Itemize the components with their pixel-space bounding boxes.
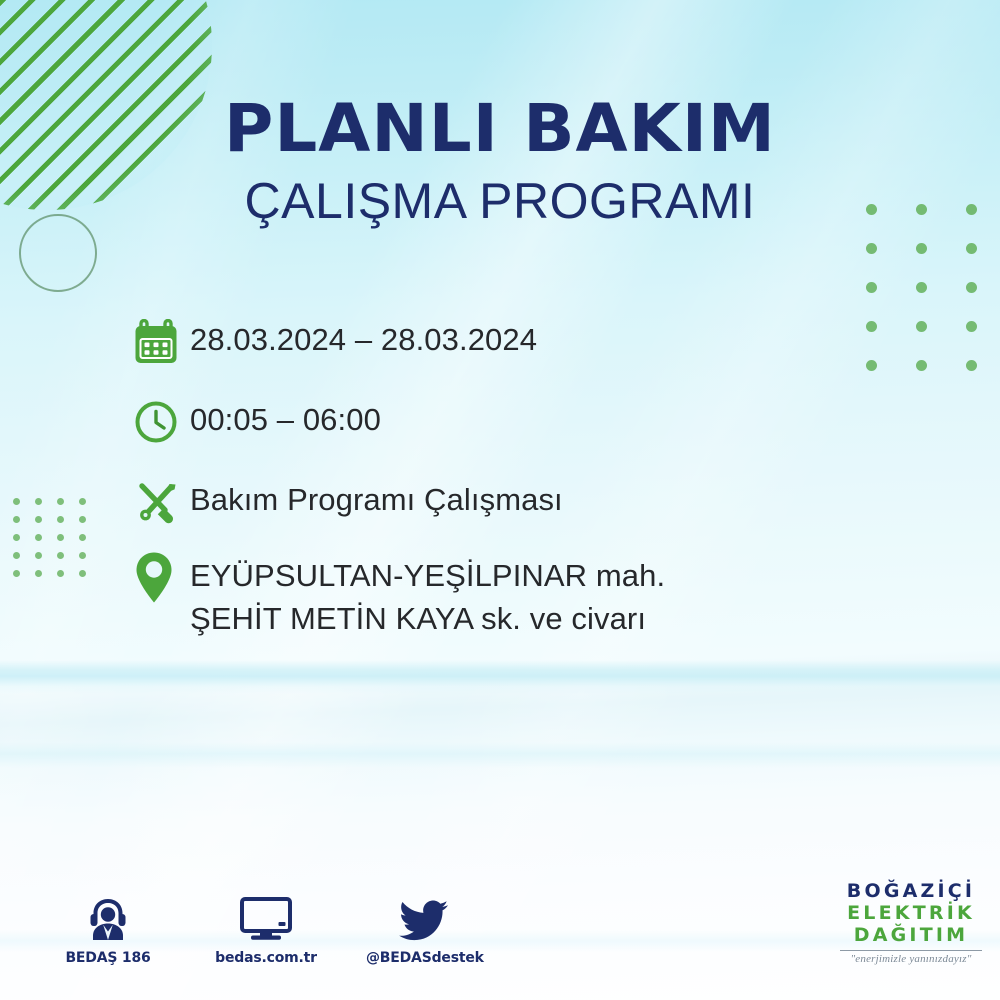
logo-line-bogazici: BOĞAZİÇİ xyxy=(836,880,986,902)
bedas-logo: BOĞAZİÇİ ELEKTRİK DAĞITIM "enerjimizle y… xyxy=(836,880,986,965)
location-value: EYÜPSULTAN-YEŞİLPINAR mah. ŞEHİT METİN K… xyxy=(190,548,665,641)
time-range-value: 00:05 – 06:00 xyxy=(190,392,381,442)
contact-call-center[interactable]: BEDAŞ 186 xyxy=(50,893,166,966)
detail-row-work-type: Bakım Programı Çalışması xyxy=(134,472,854,530)
page-title: PLANLI BAKIM xyxy=(0,96,1000,162)
calendar-icon xyxy=(134,312,190,370)
twitter-bird-icon xyxy=(366,893,482,941)
headset-support-icon xyxy=(50,893,166,941)
logo-line-elektrik: ELEKTRİK xyxy=(836,902,986,924)
detail-row-time: 00:05 – 06:00 xyxy=(134,392,854,450)
logo-line-dagitim: DAĞITIM xyxy=(836,924,986,946)
location-pin-icon xyxy=(134,548,190,606)
maintenance-details: 28.03.2024 – 28.03.2024 00:05 – 06:00 xyxy=(134,312,854,641)
logo-divider xyxy=(840,950,982,951)
planned-maintenance-poster: PLANLI BAKIM ÇALIŞMA PROGRAMI xyxy=(0,0,1000,1000)
contact-twitter[interactable]: @BEDASdestek xyxy=(366,893,482,966)
poster-title-block: PLANLI BAKIM ÇALIŞMA PROGRAMI xyxy=(0,96,1000,226)
footer-contact-bar: BEDAŞ 186 bedas.com.tr @BEDASdestek xyxy=(50,893,482,966)
monitor-website-icon xyxy=(208,893,324,941)
work-type-value: Bakım Programı Çalışması xyxy=(190,472,563,522)
contact-twitter-label: @BEDASdestek xyxy=(366,950,482,966)
contact-website[interactable]: bedas.com.tr xyxy=(208,893,324,966)
clock-icon xyxy=(134,392,190,450)
tools-icon xyxy=(134,472,190,530)
detail-row-date: 28.03.2024 – 28.03.2024 xyxy=(134,312,854,370)
detail-row-location: EYÜPSULTAN-YEŞİLPINAR mah. ŞEHİT METİN K… xyxy=(134,548,854,641)
logo-tagline: "enerjimizle yanınızdayız" xyxy=(836,953,986,965)
location-line-1: EYÜPSULTAN-YEŞİLPINAR mah. xyxy=(190,558,665,593)
page-subtitle: ÇALIŞMA PROGRAMI xyxy=(0,176,1000,226)
location-line-2: ŞEHİT METİN KAYA sk. ve civarı xyxy=(190,598,665,641)
contact-website-label: bedas.com.tr xyxy=(208,950,324,966)
date-range-value: 28.03.2024 – 28.03.2024 xyxy=(190,312,537,362)
contact-call-center-label: BEDAŞ 186 xyxy=(50,950,166,966)
